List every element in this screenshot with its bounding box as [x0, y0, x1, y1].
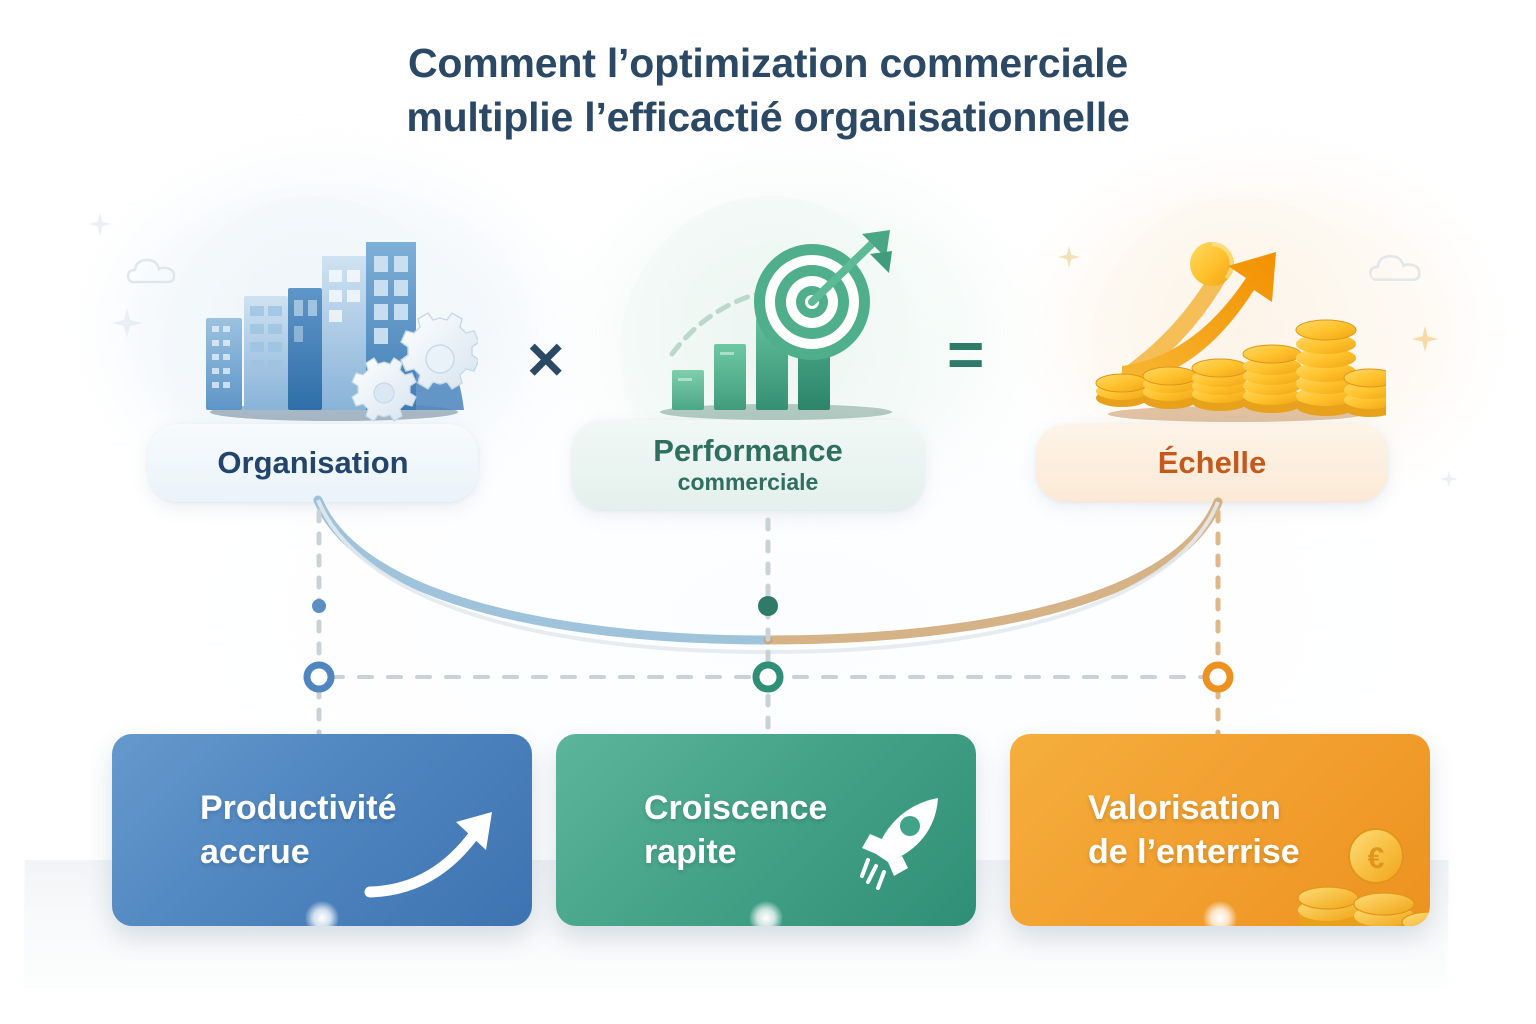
outcome-productivite-label: Productivité accrue	[112, 786, 396, 874]
node-dot-middle	[758, 596, 778, 616]
arc-right	[768, 502, 1218, 640]
node-ring-middle	[756, 665, 780, 689]
node-dot-left	[312, 599, 326, 613]
outcome-productivite-line2: accrue	[200, 833, 310, 871]
outcome-croissance-label: Croiscence rapite	[556, 786, 827, 874]
card-glow	[305, 901, 339, 926]
outcome-croissance[interactable]: Croiscence rapite	[556, 734, 976, 926]
arc-left	[318, 500, 768, 640]
outcome-valorisation-label: Valorisation de l’enterrise	[1010, 786, 1300, 874]
outcome-valorisation-line2: de l’enterrise	[1088, 833, 1300, 871]
rocket-icon	[832, 790, 952, 900]
card-glow	[749, 901, 783, 926]
card-glow	[1203, 901, 1237, 926]
infographic-canvas: Comment l’optimization commerciale multi…	[0, 0, 1536, 1024]
outcome-croissance-line2: rapite	[644, 833, 737, 871]
outcome-croissance-line1: Croiscence	[644, 789, 827, 827]
outcome-valorisation[interactable]: Valorisation de l’enterrise €	[1010, 734, 1430, 926]
curved-up-arrow-icon	[364, 792, 514, 902]
node-ring-right	[1206, 665, 1230, 689]
euro-coins-icon: €	[1284, 816, 1430, 926]
svg-text:€: €	[1368, 842, 1385, 875]
outcome-productivite[interactable]: Productivité accrue	[112, 734, 532, 926]
outcome-valorisation-line1: Valorisation	[1088, 789, 1281, 827]
node-ring-left	[307, 665, 331, 689]
